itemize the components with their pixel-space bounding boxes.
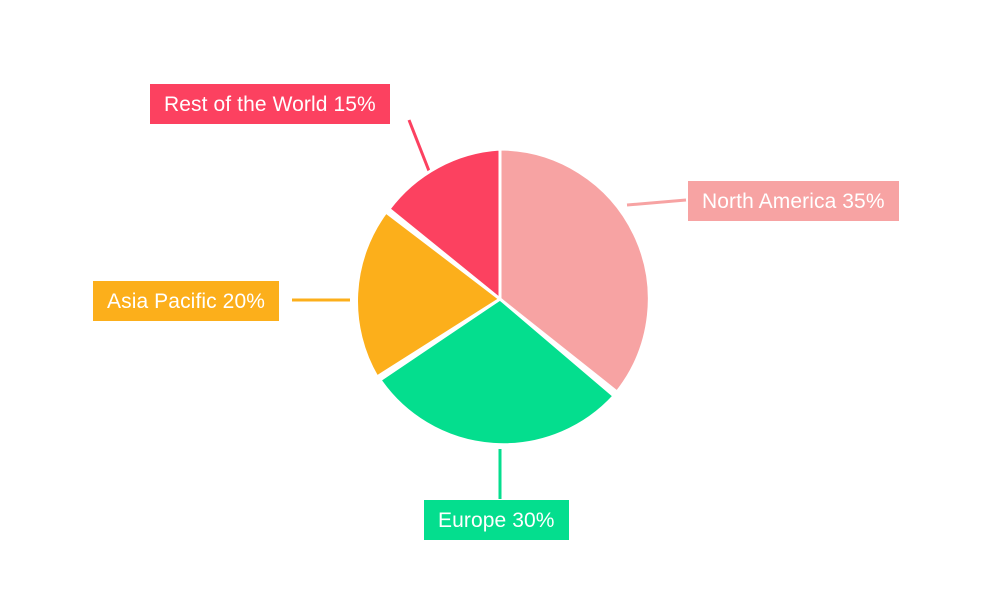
pie-slices <box>357 149 650 445</box>
pie-label-rest-of-the-world[interactable]: Rest of the World 15% <box>150 84 390 124</box>
pie-chart-figure: North America 35% Europe 30% Asia Pacifi… <box>0 0 1000 600</box>
pie-label-asia-pacific[interactable]: Asia Pacific 20% <box>93 281 279 321</box>
pie-label-europe[interactable]: Europe 30% <box>424 500 569 540</box>
leader-line-north-america <box>627 200 686 205</box>
leader-line-rest-of-the-world <box>409 120 431 176</box>
pie-label-north-america[interactable]: North America 35% <box>688 181 899 221</box>
